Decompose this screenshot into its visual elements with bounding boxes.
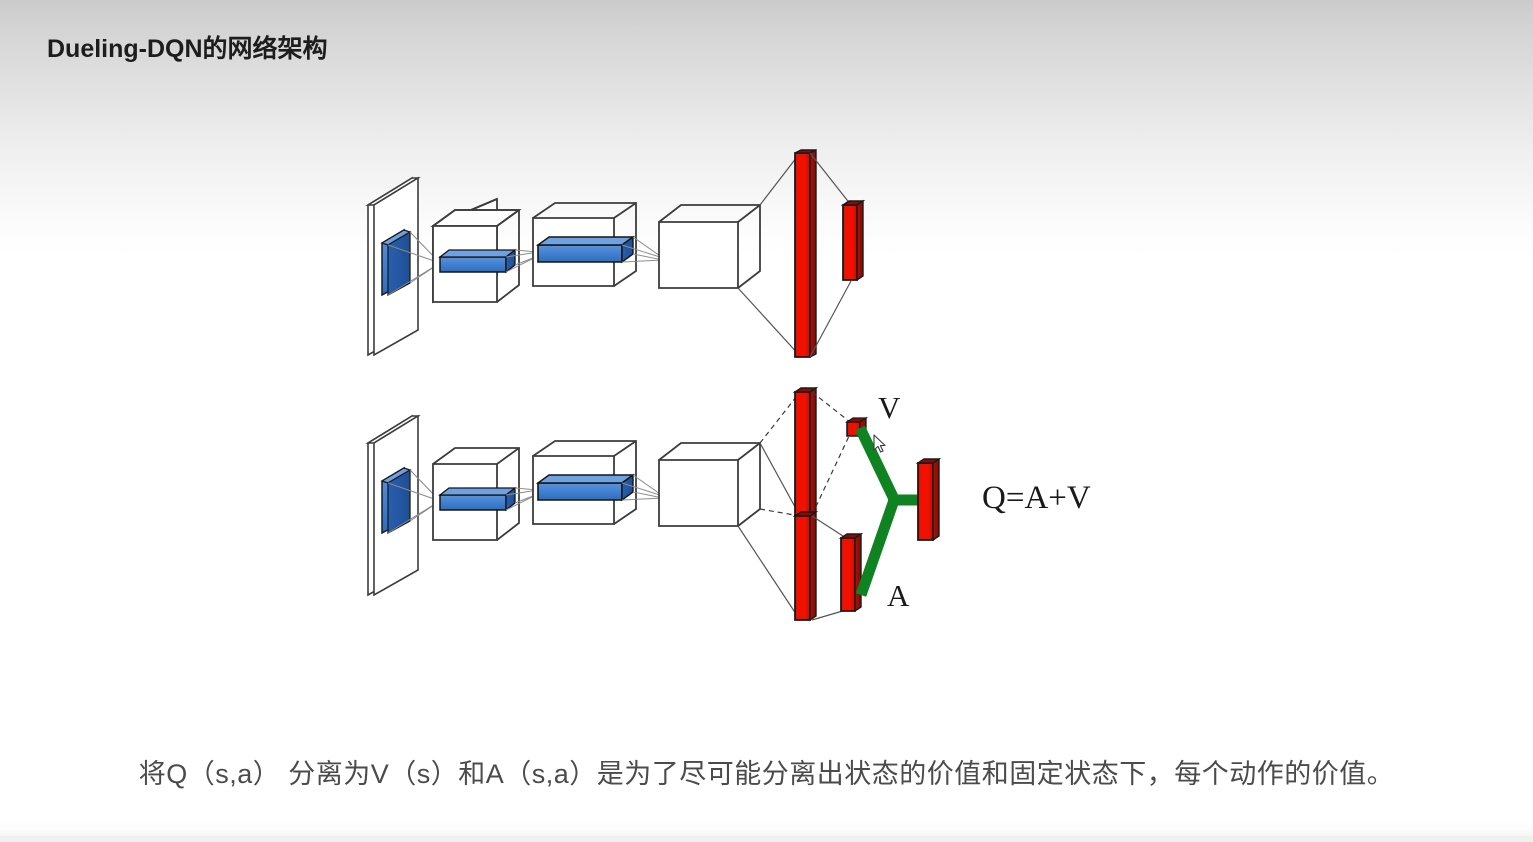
output-q-layer-bar xyxy=(843,201,863,280)
conv-filter-slab-3 xyxy=(440,488,515,510)
q-equation-label: Q=A+V xyxy=(982,480,1091,517)
output-q-layer-bar-2 xyxy=(918,459,939,540)
network-standard-dqn xyxy=(368,150,863,357)
network-dueling-dqn xyxy=(368,388,939,620)
receptive-field-patch xyxy=(382,230,410,295)
conv-filter-slab-4 xyxy=(538,475,633,500)
fc-connector-lines xyxy=(738,153,800,356)
conv-filter-slab-1 xyxy=(440,250,515,272)
aggregation-merge xyxy=(860,428,922,595)
conv-block-3 xyxy=(659,205,760,288)
conv-block-6 xyxy=(659,443,760,526)
fc-layer-bar xyxy=(795,150,816,357)
advantage-stream-connectors xyxy=(738,443,800,620)
bottom-edge-bar xyxy=(0,836,1533,842)
receptive-field-patch-2 xyxy=(382,468,410,533)
value-fc-bar xyxy=(795,388,816,515)
value-stream-label: V xyxy=(878,390,900,426)
slide-caption: 将Q（s,a） 分离为V（s）和A（s,a）是为了尽可能分离出状态的价值和固定状… xyxy=(0,752,1533,791)
advantage-fc-bar xyxy=(795,512,816,620)
value-node-connectors xyxy=(812,392,850,515)
slide-canvas: Dueling-DQN的网络架构 xyxy=(0,0,1533,842)
advantage-output-bar xyxy=(841,534,861,611)
conv-filter-slab-2 xyxy=(538,237,633,262)
dueling-dqn-diagram xyxy=(0,0,1533,842)
advantage-stream-label: A xyxy=(887,578,909,614)
